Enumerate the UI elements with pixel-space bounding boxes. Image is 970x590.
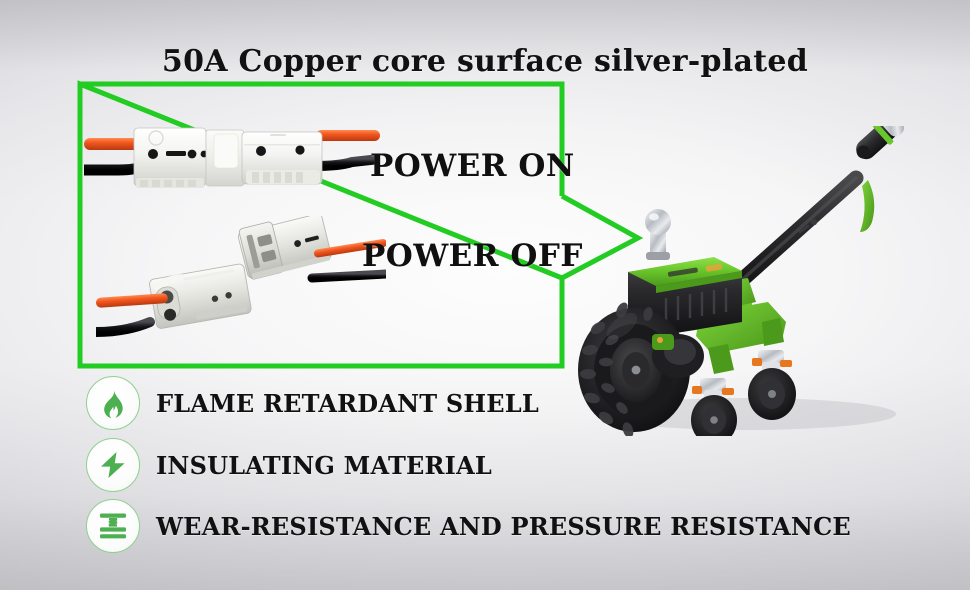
feature-icon-circle [86, 376, 140, 430]
feature-insulating-material: INSULATING MATERIAL [86, 438, 492, 492]
connector-mated-photo [84, 104, 380, 208]
feature-label: INSULATING MATERIAL [156, 451, 492, 480]
feature-label: FLAME RETARDANT SHELL [156, 389, 539, 418]
power-off-label: POWER OFF [362, 238, 583, 274]
page-title: 50A Copper core surface silver-plated [0, 44, 970, 79]
compression-icon [97, 511, 129, 541]
feature-icon-circle [86, 438, 140, 492]
electric-trailer-dolly-photo [556, 126, 966, 436]
connector-separated-photo [96, 216, 386, 352]
feature-wear-pressure-resistance: WEAR-RESISTANCE AND PRESSURE RESISTANCE [86, 499, 851, 553]
feature-icon-circle [86, 499, 140, 553]
lightning-icon [97, 449, 129, 481]
flame-icon [98, 387, 128, 419]
promo-canvas: 50A Copper core surface silver-plated [0, 0, 970, 590]
power-on-label: POWER ON [370, 148, 575, 184]
feature-label: WEAR-RESISTANCE AND PRESSURE RESISTANCE [156, 512, 851, 541]
feature-flame-retardant: FLAME RETARDANT SHELL [86, 376, 539, 430]
